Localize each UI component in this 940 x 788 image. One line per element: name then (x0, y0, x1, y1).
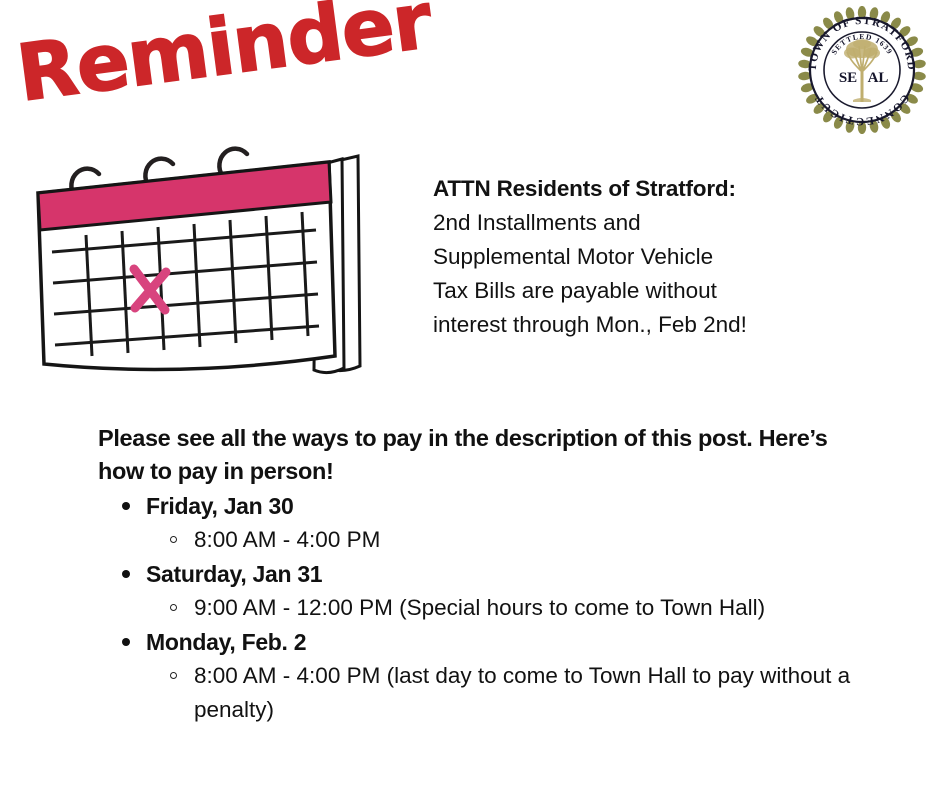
seal-word-left: SE (839, 70, 857, 86)
hours-text: 9:00 AM - 12:00 PM (Special hours to com… (194, 591, 894, 625)
day-label: Saturday, Jan 31 (146, 558, 910, 591)
attn-lead-line: ATTN Residents of Stratford: (433, 172, 863, 206)
bullet-circle-icon (170, 536, 177, 543)
attn-line: Supplemental Motor Vehicle (433, 240, 863, 274)
hours-sublist: 8:00 AM - 4:00 PM (last day to come to T… (146, 659, 910, 727)
desk-calendar-illustration (24, 142, 392, 392)
list-item: 8:00 AM - 4:00 PM (168, 523, 910, 557)
in-person-hours-list: Friday, Jan 30 8:00 AM - 4:00 PM Saturda… (98, 490, 910, 727)
bullet-circle-icon (170, 672, 177, 679)
bullet-dot-icon (122, 570, 130, 578)
hours-text: 8:00 AM - 4:00 PM (last day to come to T… (194, 659, 894, 727)
payment-info-section: Please see all the ways to pay in the de… (98, 422, 910, 728)
list-item: 9:00 AM - 12:00 PM (Special hours to com… (168, 591, 910, 625)
hours-sublist: 8:00 AM - 4:00 PM (146, 523, 910, 557)
hours-text: 8:00 AM - 4:00 PM (194, 523, 894, 557)
hours-sublist: 9:00 AM - 12:00 PM (Special hours to com… (146, 591, 910, 625)
attn-line: Tax Bills are payable without (433, 274, 863, 308)
attn-notice-block: ATTN Residents of Stratford: 2nd Install… (433, 172, 863, 342)
list-item: Saturday, Jan 31 9:00 AM - 12:00 PM (Spe… (120, 558, 910, 625)
day-label: Friday, Jan 30 (146, 490, 910, 523)
attn-line: interest through Mon., Feb 2nd! (433, 308, 863, 342)
intro-paragraph: Please see all the ways to pay in the de… (98, 422, 838, 488)
list-item: 8:00 AM - 4:00 PM (last day to come to T… (168, 659, 910, 727)
bullet-circle-icon (170, 604, 177, 611)
day-label: Monday, Feb. 2 (146, 626, 910, 659)
town-of-stratford-seal: TOWN OF STRATFORD · CONNECTICUT · SETTLE… (798, 6, 926, 134)
seal-word-right: AL (868, 70, 889, 86)
list-item: Friday, Jan 30 8:00 AM - 4:00 PM (120, 490, 910, 557)
reminder-heading: Reminder (18, 26, 418, 136)
list-item: Monday, Feb. 2 8:00 AM - 4:00 PM (last d… (120, 626, 910, 727)
reminder-stamp-text: Reminder (13, 0, 435, 114)
bullet-dot-icon (122, 502, 130, 510)
bullet-dot-icon (122, 638, 130, 646)
attn-line: 2nd Installments and (433, 206, 863, 240)
